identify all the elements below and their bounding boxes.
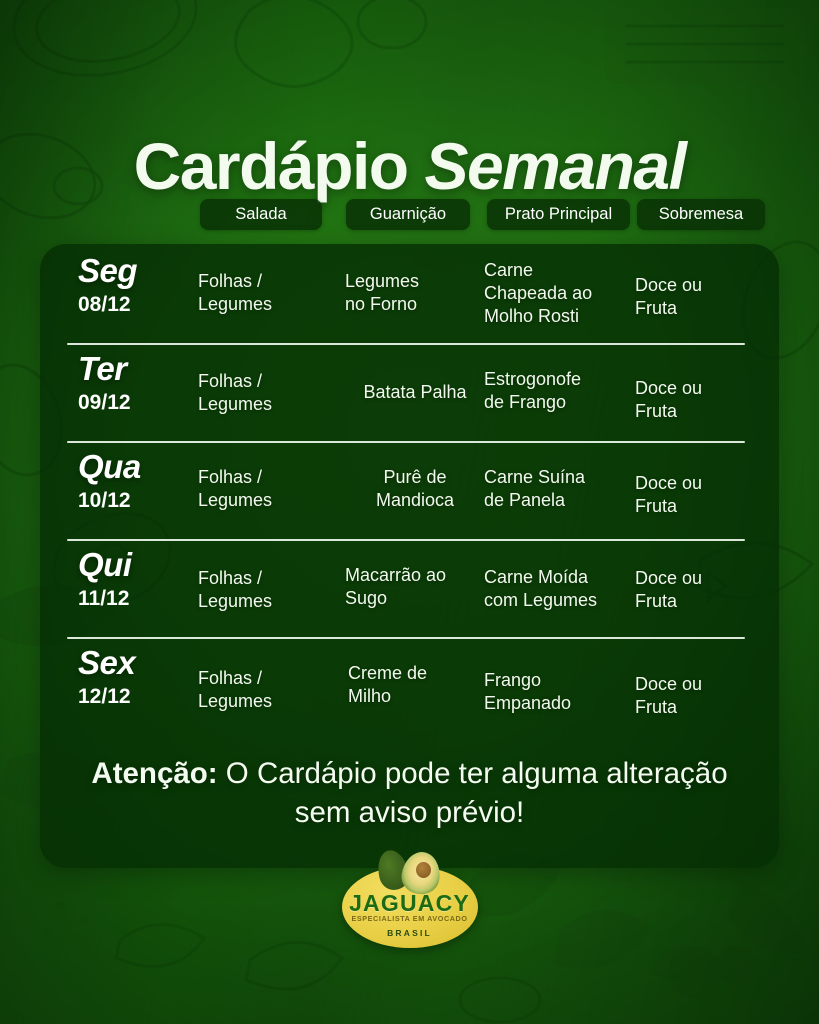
day-name: Ter (78, 352, 218, 387)
column-header-sobremesa: Sobremesa (637, 199, 765, 230)
day-block: Seg 08/12 (78, 254, 218, 318)
cell-sobremesa: Doce ouFruta (635, 472, 765, 518)
cell-salada: Folhas /Legumes (198, 667, 333, 713)
row-divider (67, 637, 745, 639)
cell-guarnicao: Purê deMandioca (340, 466, 490, 512)
row-divider (67, 539, 745, 541)
day-block: Ter 09/12 (78, 352, 218, 416)
cell-salada: Folhas /Legumes (198, 270, 333, 316)
cell-salada: Folhas /Legumes (198, 370, 333, 416)
notice-bold-prefix: Atenção: (91, 757, 217, 790)
cell-sobremesa: Doce ouFruta (635, 274, 765, 320)
table-row: Seg 08/12 Folhas /Legumes Legumesno Forn… (40, 248, 779, 346)
column-header-salada: Salada (200, 199, 322, 230)
day-name: Seg (78, 254, 218, 289)
day-block: Sex 12/12 (78, 646, 218, 710)
logo-brand-name: JAGUACY (342, 890, 478, 917)
cell-guarnicao: Batata Palha (340, 381, 490, 404)
cell-prato-principal: Carne Suínade Panela (484, 466, 644, 512)
table-row: Qui 11/12 Folhas /Legumes Macarrão aoSug… (40, 542, 779, 640)
table-row: Qua 10/12 Folhas /Legumes Purê deMandioc… (40, 444, 779, 542)
page-title: Cardápio Semanal (0, 132, 819, 201)
row-divider (67, 343, 745, 345)
column-header-guarnicao: Guarnição (346, 199, 470, 230)
logo-tagline: ESPECIALISTA EM AVOCADO (342, 914, 478, 923)
cell-salada: Folhas /Legumes (198, 466, 333, 512)
day-block: Qua 10/12 (78, 450, 218, 514)
row-divider (67, 441, 745, 443)
day-date: 12/12 (78, 683, 218, 710)
day-name: Qua (78, 450, 218, 485)
cell-prato-principal: Carne Moídacom Legumes (484, 566, 644, 612)
table-row: Sex 12/12 Folhas /Legumes Creme deMilho … (40, 640, 779, 738)
notice-body: O Cardápio pode ter alguma alteração sem… (218, 757, 728, 829)
cell-prato-principal: CarneChapeada aoMolho Rosti (484, 259, 644, 328)
cell-sobremesa: Doce ouFruta (635, 567, 765, 613)
logo-country: BRASIL (342, 928, 478, 938)
jaguacy-logo: JAGUACY ESPECIALISTA EM AVOCADO BRASIL (342, 856, 478, 948)
table-row: Ter 09/12 Folhas /Legumes Batata Palha E… (40, 346, 779, 444)
title-word-semanal: Semanal (424, 129, 685, 203)
cell-guarnicao: Macarrão aoSugo (345, 564, 505, 610)
menu-card: Seg 08/12 Folhas /Legumes Legumesno Forn… (40, 244, 779, 868)
day-date: 10/12 (78, 487, 218, 514)
cell-prato-principal: Estrogonofede Frango (484, 368, 644, 414)
day-date: 11/12 (78, 585, 218, 612)
day-date: 08/12 (78, 291, 218, 318)
day-date: 09/12 (78, 389, 218, 416)
cell-guarnicao: Legumesno Forno (345, 270, 495, 316)
day-block: Qui 11/12 (78, 548, 218, 612)
cell-guarnicao: Creme deMilho (348, 662, 498, 708)
day-name: Qui (78, 548, 218, 583)
cell-sobremesa: Doce ouFruta (635, 673, 765, 719)
menu-poster: .dk { fill: none; stroke: #0f4a09; strok… (0, 0, 819, 1024)
cell-salada: Folhas /Legumes (198, 567, 333, 613)
day-name: Sex (78, 646, 218, 681)
column-headers: Salada Guarnição Prato Principal Sobreme… (0, 199, 819, 231)
avocado-pit-icon (416, 862, 431, 878)
column-header-prato-principal: Prato Principal (487, 199, 630, 230)
notice-text: Atenção: O Cardápio pode ter alguma alte… (70, 754, 749, 832)
cell-prato-principal: FrangoEmpanado (484, 669, 644, 715)
cell-sobremesa: Doce ouFruta (635, 377, 765, 423)
title-word-cardapio: Cardápio (134, 129, 408, 203)
